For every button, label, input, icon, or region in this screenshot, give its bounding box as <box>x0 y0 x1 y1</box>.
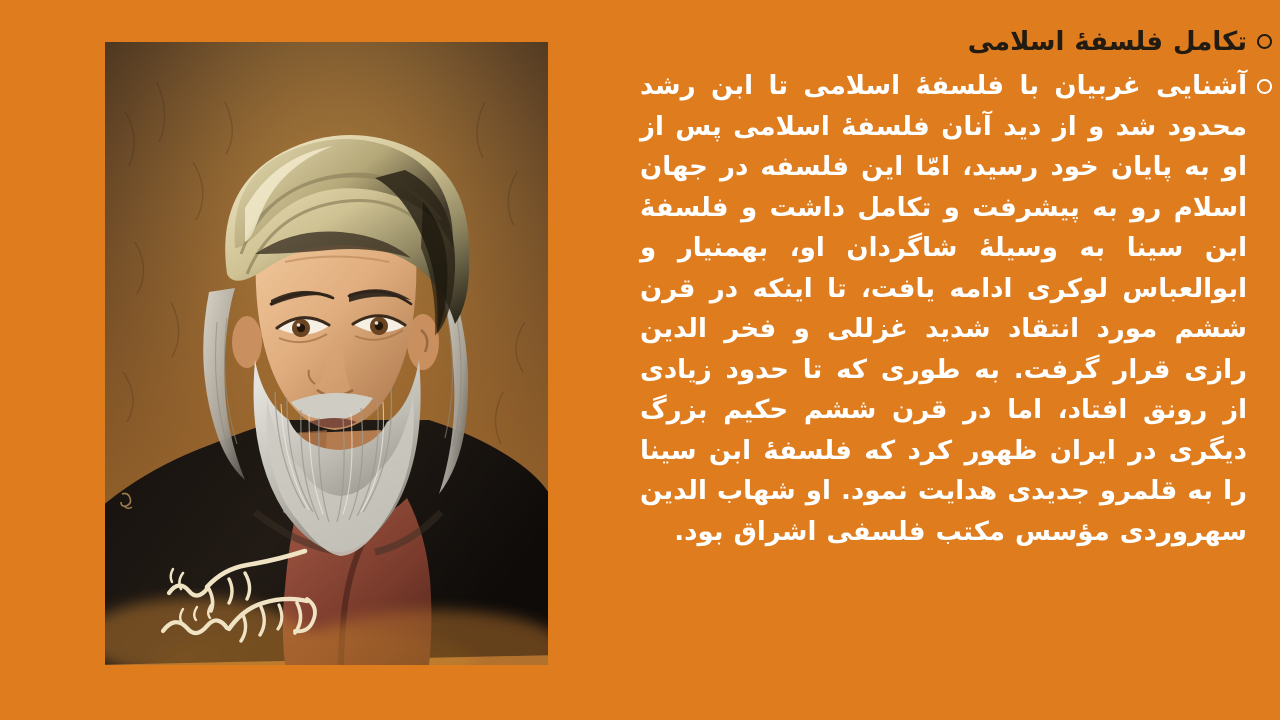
slide-body-paragraph: آشنایی غربیان با فلسفۀ اسلامی تا ابن رشد… <box>640 66 1247 552</box>
artist-signature-mark <box>119 490 137 514</box>
text-content-column: تکامل فلسفۀ اسلامی آشنایی غربیان با فلسف… <box>620 22 1280 702</box>
bullet-item-body: آشنایی غربیان با فلسفۀ اسلامی تا ابن رشد… <box>640 66 1280 552</box>
slide-root: تکامل فلسفۀ اسلامی آشنایی غربیان با فلسف… <box>0 0 1280 720</box>
bullet-circle-icon <box>1257 79 1272 94</box>
bullet-circle-icon <box>1257 34 1272 49</box>
portrait-image <box>105 42 548 665</box>
bullet-item-title: تکامل فلسفۀ اسلامی <box>640 22 1280 62</box>
slide-title: تکامل فلسفۀ اسلامی <box>640 22 1247 62</box>
portrait-illustration <box>105 42 548 665</box>
